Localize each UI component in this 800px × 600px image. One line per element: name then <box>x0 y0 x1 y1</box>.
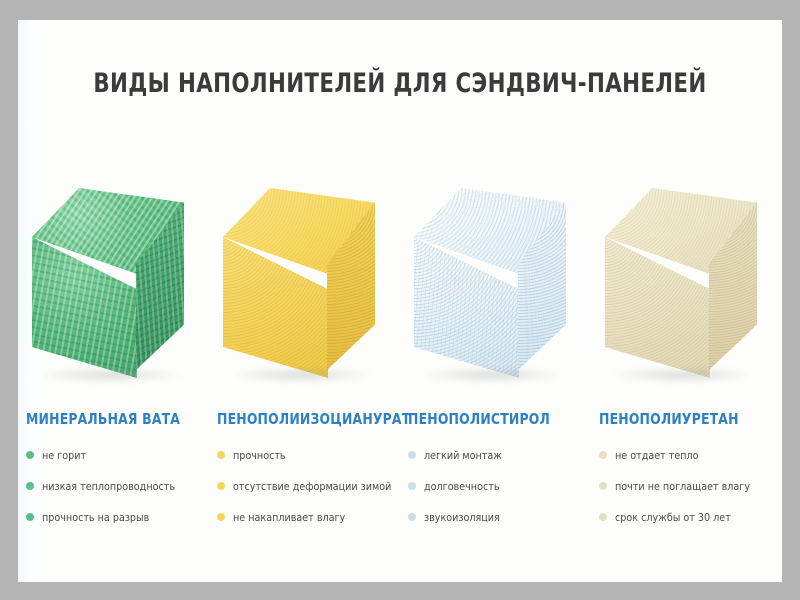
block-shadow <box>40 367 180 383</box>
material-block-pur <box>597 180 772 385</box>
bullet-dot-icon <box>26 451 34 459</box>
feature-list-pur: не отдает тепло почти не поглащает влагу… <box>599 450 782 524</box>
material-heading-mineral-wool: МИНЕРАЛЬНАЯ ВАТА <box>26 410 194 428</box>
bullet-dot-icon <box>217 451 225 459</box>
material-column-pur: ПЕНОПОЛИУРЕТАН не отдает тепло почти не … <box>591 180 782 543</box>
block-shadow <box>422 367 562 383</box>
list-item: прочность <box>217 450 400 462</box>
material-block-mineral-wool <box>24 180 199 385</box>
bullet-dot-icon <box>217 513 225 521</box>
material-column-pir: ПЕНОПОЛИИЗОЦИАНУРАТ прочность отсутствие… <box>209 180 400 543</box>
outer-frame: ВИДЫ НАПОЛНИТЕЛЕЙ ДЛЯ СЭНДВИЧ-ПАНЕЛЕЙ МИ… <box>0 0 800 600</box>
cube-mineral-wool <box>32 188 184 378</box>
list-item: прочность на разрыв <box>26 512 209 524</box>
material-block-pir <box>215 180 390 385</box>
feature-label: не горит <box>42 450 86 462</box>
list-item: легкий монтаж <box>408 450 591 462</box>
bullet-dot-icon <box>599 513 607 521</box>
bullet-dot-icon <box>599 482 607 490</box>
list-item: низкая теплопроводность <box>26 481 209 493</box>
list-item: почти не поглащает влагу <box>599 481 782 493</box>
bullet-dot-icon <box>408 482 416 490</box>
bullet-dot-icon <box>217 482 225 490</box>
block-shadow <box>231 367 371 383</box>
bullet-dot-icon <box>26 513 34 521</box>
bullet-dot-icon <box>26 482 34 490</box>
list-item: отсутствие деформации зимой <box>217 481 400 493</box>
feature-label: легкий монтаж <box>424 450 502 462</box>
feature-label: не накапливает влагу <box>233 512 345 524</box>
bullet-dot-icon <box>408 451 416 459</box>
material-column-eps: ПЕНОПОЛИСТИРОЛ легкий монтаж долговечнос… <box>400 180 591 543</box>
list-item: не горит <box>26 450 209 462</box>
cube-pir <box>223 188 375 378</box>
feature-label: звукоизоляция <box>424 512 500 524</box>
bullet-dot-icon <box>408 513 416 521</box>
list-item: не отдает тепло <box>599 450 782 462</box>
feature-label: отсутствие деформации зимой <box>233 481 391 493</box>
page-title: ВИДЫ НАПОЛНИТЕЛЕЙ ДЛЯ СЭНДВИЧ-ПАНЕЛЕЙ <box>64 68 736 99</box>
feature-label: срок службы от 30 лет <box>615 512 731 524</box>
material-heading-pur: ПЕНОПОЛИУРЕТАН <box>599 410 767 428</box>
cube-eps <box>414 188 566 378</box>
feature-list-eps: легкий монтаж долговечность звукоизоляци… <box>408 450 591 524</box>
material-block-eps <box>406 180 581 385</box>
material-columns: МИНЕРАЛЬНАЯ ВАТА не горит низкая теплопр… <box>18 180 782 543</box>
feature-list-mineral-wool: не горит низкая теплопроводность прочнос… <box>26 450 209 524</box>
material-column-mineral-wool: МИНЕРАЛЬНАЯ ВАТА не горит низкая теплопр… <box>18 180 209 543</box>
material-heading-eps: ПЕНОПОЛИСТИРОЛ <box>408 410 576 428</box>
bullet-dot-icon <box>599 451 607 459</box>
cube-pur <box>605 188 757 378</box>
list-item: звукоизоляция <box>408 512 591 524</box>
feature-label: низкая теплопроводность <box>42 481 175 493</box>
material-heading-pir: ПЕНОПОЛИИЗОЦИАНУРАТ <box>217 410 385 428</box>
feature-list-pir: прочность отсутствие деформации зимой не… <box>217 450 400 524</box>
feature-label: почти не поглащает влагу <box>615 481 750 493</box>
feature-label: не отдает тепло <box>615 450 699 462</box>
feature-label: прочность <box>233 450 286 462</box>
feature-label: долговечность <box>424 481 499 493</box>
feature-label: прочность на разрыв <box>42 512 149 524</box>
list-item: срок службы от 30 лет <box>599 512 782 524</box>
block-shadow <box>613 367 753 383</box>
infographic-page: ВИДЫ НАПОЛНИТЕЛЕЙ ДЛЯ СЭНДВИЧ-ПАНЕЛЕЙ МИ… <box>18 20 782 582</box>
list-item: не накапливает влагу <box>217 512 400 524</box>
list-item: долговечность <box>408 481 591 493</box>
